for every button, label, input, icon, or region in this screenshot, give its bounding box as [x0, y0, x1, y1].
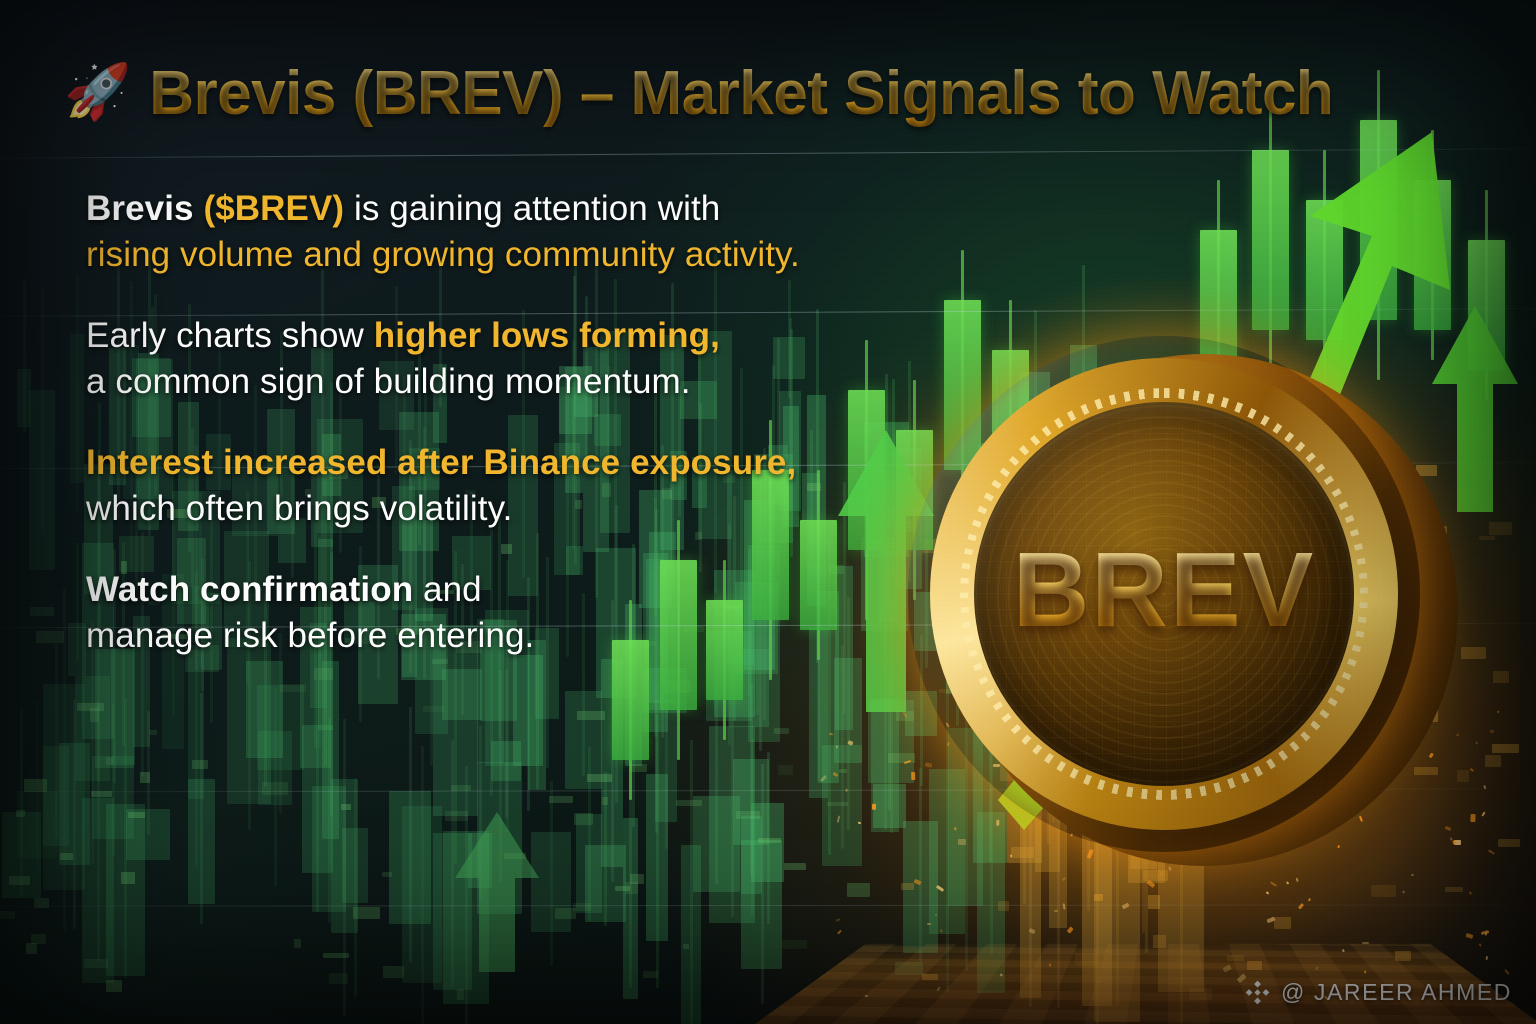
spark-particle [1147, 880, 1156, 888]
body-copy: Brevis ($BREV) is gaining attention with… [86, 186, 886, 694]
spark-particle [1062, 903, 1065, 909]
spark-particle [1067, 926, 1074, 933]
page-title: 🚀 Brevis (BREV) – Market Signals to Watc… [64, 58, 1333, 129]
body-line: which often brings volatility. [86, 486, 886, 532]
text-run: Watch confirmation [86, 570, 413, 609]
spark-particle [858, 821, 862, 824]
spark-particle [1481, 811, 1486, 816]
text-run: rising volume and growing community acti… [86, 235, 800, 274]
spark-particle [1286, 881, 1290, 885]
spark-particle [845, 788, 847, 791]
spark-particle [1000, 973, 1003, 976]
spark-particle [1466, 933, 1474, 939]
body-paragraph-1: Brevis ($BREV) is gaining attention with… [86, 186, 886, 277]
spark-particle [1298, 903, 1304, 909]
spark-particle [1308, 898, 1311, 901]
spark-particle [1028, 928, 1035, 934]
spark-particle [1296, 878, 1299, 883]
spark-particle [1062, 877, 1066, 881]
spark-particle [837, 815, 841, 822]
spark-particle [940, 929, 943, 932]
title-text: Brevis (BREV) – Market Signals to Watch [149, 58, 1333, 129]
spark-particle [1504, 969, 1509, 975]
spark-particle [820, 775, 827, 782]
text-run: a common sign of building momentum. [86, 362, 691, 401]
spark-particle [1222, 964, 1231, 972]
body-line: Brevis ($BREV) is gaining attention with [86, 186, 886, 232]
spark-particle [927, 923, 931, 926]
text-run: which often brings volatility. [86, 489, 512, 528]
infographic-poster: BREV 🚀 Brevis (BREV) – Market Signals to… [0, 0, 1536, 1024]
body-paragraph-2: Early charts show higher lows forming,a … [86, 313, 886, 404]
coin-ticker-label: BREV [1013, 530, 1316, 651]
spark-particle [865, 995, 868, 997]
body-paragraph-3: Interest increased after Binance exposur… [86, 440, 886, 531]
spark-particle [1470, 768, 1474, 772]
spark-particle [1488, 849, 1495, 854]
coin-face: BREV [974, 402, 1354, 786]
spark-particle [913, 879, 921, 886]
spark-particle [936, 885, 945, 892]
spark-particle [1475, 741, 1479, 745]
rocket-icon: 🚀 [64, 65, 131, 119]
body-line: rising volume and growing community acti… [86, 232, 886, 278]
watermark: @ JAREER AHMED [1244, 979, 1512, 1006]
spark-particle [837, 929, 842, 934]
spark-particle [936, 986, 940, 991]
spark-particle [1469, 891, 1472, 894]
coin-outer-ring: BREV [908, 336, 1420, 852]
text-run: is gaining attention with [344, 189, 720, 228]
spark-particle [1054, 910, 1058, 912]
spark-particle [935, 914, 937, 916]
spark-particle [1486, 956, 1489, 960]
brev-coin: BREV [900, 328, 1448, 876]
spark-particle [847, 740, 853, 745]
spark-particle [836, 745, 838, 749]
text-run: Interest increased after Binance exposur… [86, 443, 796, 482]
body-paragraph-4: Watch confirmation andmanage risk before… [86, 567, 886, 658]
spark-particle [1456, 733, 1459, 736]
spark-particle [1479, 943, 1482, 946]
spark-particle [1122, 903, 1130, 909]
text-run: ($BREV) [203, 189, 344, 228]
spark-particle [829, 733, 833, 736]
spark-particle [872, 804, 876, 810]
body-line: Watch confirmation and [86, 567, 886, 613]
text-run: manage risk before entering. [86, 616, 534, 655]
spark-particle [1266, 891, 1270, 895]
spark-particle [1490, 729, 1495, 733]
spark-particle [1342, 949, 1344, 953]
spark-particle [1497, 710, 1499, 713]
body-line: Early charts show higher lows forming, [86, 313, 886, 359]
spark-particle [1266, 917, 1275, 924]
spark-particle [833, 772, 839, 777]
spark-particle [1315, 966, 1319, 971]
spark-particle [1049, 963, 1051, 966]
text-run: higher lows forming, [374, 316, 720, 355]
watermark-handle: @ JAREER AHMED [1281, 979, 1512, 1006]
spark-particle [1483, 785, 1486, 789]
text-run: and [413, 570, 482, 609]
spark-particle [1270, 881, 1277, 886]
text-run: Early charts show [86, 316, 374, 355]
spark-particle [1362, 942, 1369, 944]
spark-particle [1364, 970, 1366, 973]
spark-particle [1470, 814, 1475, 822]
spark-particle [836, 918, 840, 921]
body-line: Interest increased after Binance exposur… [86, 440, 886, 486]
spark-particle [1402, 890, 1406, 894]
text-run: Brevis [86, 189, 203, 228]
body-line: a common sign of building momentum. [86, 359, 886, 405]
body-line: manage risk before entering. [86, 613, 886, 659]
binance-logo-icon [1244, 979, 1271, 1006]
spark-particle [1485, 932, 1487, 936]
